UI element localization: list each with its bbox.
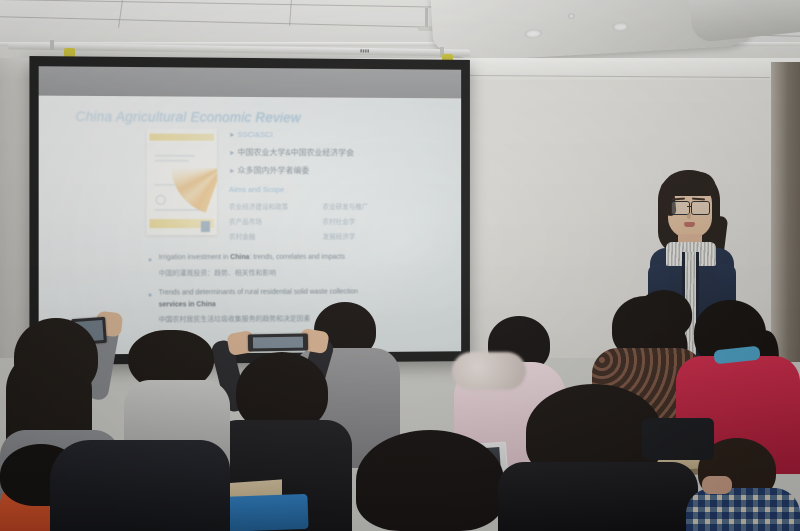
smartphone[interactable] bbox=[248, 333, 308, 351]
scope-cell-r2c1: 农产品市场 bbox=[229, 216, 262, 226]
presenter-nose bbox=[687, 213, 691, 219]
audience-body bbox=[50, 440, 230, 531]
screen-top-band bbox=[39, 66, 461, 98]
scope-cell-r3c2: 发展经济学 bbox=[323, 231, 356, 241]
lower-bullet-2-en: Trends and determinants of rural residen… bbox=[159, 289, 358, 297]
lower-bullet-1-cjk: 中国的灌溉投资：趋势、相关性和影响 bbox=[159, 267, 276, 277]
audience-head bbox=[356, 430, 504, 531]
scope-cell-r2c2: 农村社会学 bbox=[323, 216, 356, 226]
arrow-bullet-icon: ➤ bbox=[229, 131, 234, 139]
arrow-bullet-icon: ➤ bbox=[229, 149, 234, 157]
lower-bullet-1-en: Irrigation investment in China: trends, … bbox=[159, 254, 345, 262]
slide-bullet-1: ➤SSCI&SCI bbox=[229, 130, 273, 139]
audience-body bbox=[686, 488, 800, 531]
slide-title: China Agricultural Economic Review bbox=[75, 109, 300, 125]
cover-fan-graphic bbox=[171, 159, 217, 215]
roller-bracket-left bbox=[50, 40, 54, 50]
publisher-logo bbox=[201, 221, 210, 232]
wall-right-edge bbox=[771, 62, 800, 362]
presenter-glasses-bridge bbox=[687, 206, 692, 207]
audience-fur-collar bbox=[452, 352, 526, 390]
lower-bullet-2-cjk: 中国农村居民生活垃圾收集服务的趋势和决定因素 bbox=[159, 313, 311, 324]
presenter-mouth bbox=[684, 222, 695, 227]
bullet-dot-icon bbox=[149, 258, 152, 261]
slide-bullet-2: ➤中国农业大学&中国农业经济学会 bbox=[229, 147, 354, 158]
bullet-dot-icon bbox=[149, 293, 152, 296]
presenter-glasses-right bbox=[691, 201, 710, 215]
lower-bullet-2-en-cont: services in China bbox=[159, 301, 216, 308]
journal-cover-image bbox=[146, 128, 216, 235]
classroom-photo: ▮▮▮▮ China Agricultural Economic Review bbox=[0, 0, 800, 531]
roller-brand-label: ▮▮▮▮ bbox=[360, 48, 370, 53]
arrow-bullet-icon: ➤ bbox=[229, 167, 234, 175]
scope-cell-r3c1: 农村金融 bbox=[229, 231, 255, 241]
scope-cell-r1c1: 农业经济建设和政策 bbox=[229, 201, 288, 211]
slide-section-heading: Aims and Scope bbox=[229, 185, 284, 194]
audience-ear bbox=[702, 476, 732, 494]
audience-body bbox=[498, 462, 698, 531]
shoulder-bag bbox=[642, 418, 714, 460]
slide-bullet-3: ➤众多国内外学者编委 bbox=[229, 165, 309, 176]
scope-cell-r1c2: 农业研发与推广 bbox=[323, 201, 369, 211]
